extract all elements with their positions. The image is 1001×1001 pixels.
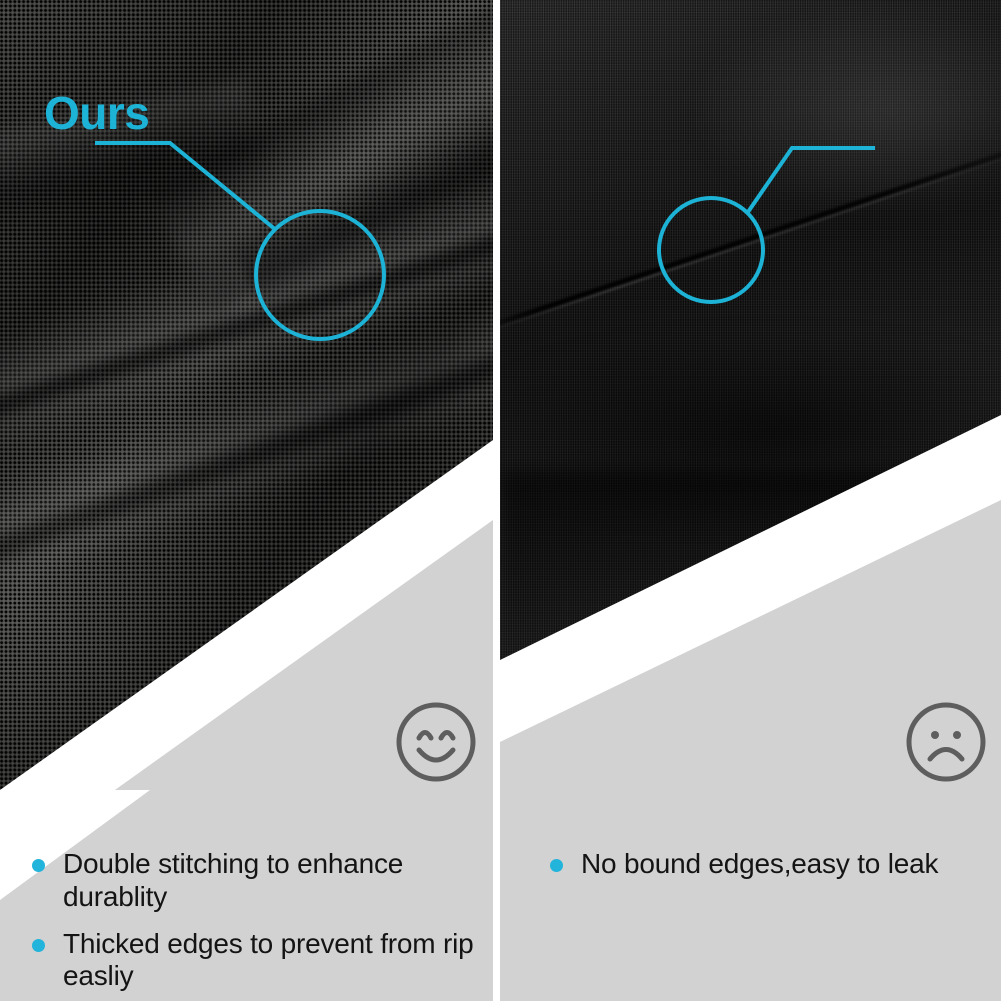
panel-ours: Ours Double stitching to enhance durabli… (0, 0, 493, 1001)
smiley-sad-icon (904, 700, 988, 784)
ours-fabric-fold (230, 68, 493, 321)
bullet-dot-icon (32, 939, 45, 952)
others-raw-seam-line (500, 133, 1001, 334)
ours-feature-text: Thicked edges to prevent from rip easliy (63, 928, 484, 994)
ours-feature-text: Double stitching to enhance durablity (63, 848, 484, 914)
bullet-dot-icon (32, 859, 45, 872)
others-fabric-highlight (680, 0, 1001, 220)
panel-divider (493, 0, 500, 1001)
smiley-happy-icon (394, 700, 478, 784)
others-feature-list: No bound edges,easy to leak (550, 848, 990, 1001)
bullet-dot-icon (550, 859, 563, 872)
comparison-image: Ours Double stitching to enhance durabli… (0, 0, 1001, 1001)
panel-others: Others No bound edges,easy to leak (500, 0, 1001, 1001)
others-feature-text: No bound edges,easy to leak (581, 848, 938, 881)
ours-fabric-fold (148, 0, 493, 314)
ours-stitched-edge (0, 154, 493, 466)
list-item: Double stitching to enhance durablity (32, 848, 484, 914)
ours-feature-list: Double stitching to enhance durablity Th… (32, 848, 484, 1001)
ours-label: Ours (44, 90, 149, 136)
list-item: Thicked edges to prevent from rip easliy (32, 928, 484, 994)
list-item: No bound edges,easy to leak (550, 848, 990, 881)
others-raw-seam-highlight (500, 146, 1001, 338)
